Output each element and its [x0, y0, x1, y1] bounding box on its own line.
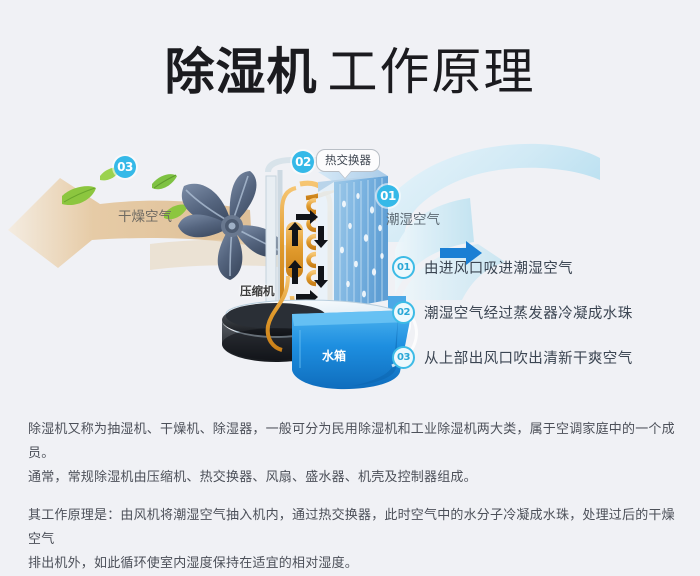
- legend-item-03: 03 从上部出风口吹出清新干爽空气: [392, 342, 692, 372]
- diagram-badge-03: 03: [114, 156, 136, 178]
- paragraph-2-line-2: 排出机外，如此循环使室内湿度保持在适宜的相对湿度。: [28, 552, 676, 576]
- legend-item-01: 01 由进风口吸进潮湿空气: [392, 252, 692, 282]
- page-title-bold: 除湿机: [165, 43, 318, 101]
- legend-text-02: 潮湿空气经过蒸发器冷凝成水珠: [424, 302, 633, 323]
- page-title: 除湿机工作原理: [0, 32, 700, 104]
- heat-exchanger-callout: 热交换器: [316, 149, 380, 172]
- legend-text-01: 由进风口吸进潮湿空气: [424, 257, 573, 278]
- paragraph-spacer: [28, 490, 676, 504]
- compressor-label: 压缩机: [240, 283, 275, 299]
- process-legend: 01 由进风口吸进潮湿空气 02 潮湿空气经过蒸发器冷凝成水珠 03 从上部出风…: [392, 252, 692, 387]
- legend-badge-03: 03: [392, 346, 415, 369]
- dry-air-label: 干燥空气: [118, 205, 172, 225]
- legend-badge-02: 02: [392, 301, 415, 324]
- page-title-light: 工作原理: [328, 43, 536, 101]
- description-copy: 除湿机又称为抽湿机、干燥机、除湿器，一般可分为民用除湿机和工业除湿机两大类，属于…: [28, 418, 676, 576]
- humid-air-label: 潮湿空气: [386, 208, 440, 228]
- paragraph-2-line-1: 其工作原理是：由风机将潮湿空气抽入机内，通过热交换器，此时空气中的水分子冷凝成水…: [28, 504, 676, 552]
- paragraph-1-line-1: 除湿机又称为抽湿机、干燥机、除湿器，一般可分为民用除湿机和工业除湿机两大类，属于…: [28, 418, 676, 466]
- leaf-icon-3: [152, 174, 177, 189]
- legend-item-02: 02 潮湿空气经过蒸发器冷凝成水珠: [392, 297, 692, 327]
- heat-exchanger-coil: [318, 166, 388, 318]
- diagram-badge-01: 01: [377, 185, 399, 207]
- paragraph-1-line-2: 通常，常规除湿机由压缩机、热交换器、风扇、盛水器、机壳及控制器组成。: [28, 466, 676, 490]
- legend-text-03: 从上部出风口吹出清新干爽空气: [424, 347, 633, 368]
- diagram-badge-02: 02: [292, 151, 314, 173]
- legend-badge-01: 01: [392, 256, 415, 279]
- water-tank-label: 水箱: [322, 347, 346, 364]
